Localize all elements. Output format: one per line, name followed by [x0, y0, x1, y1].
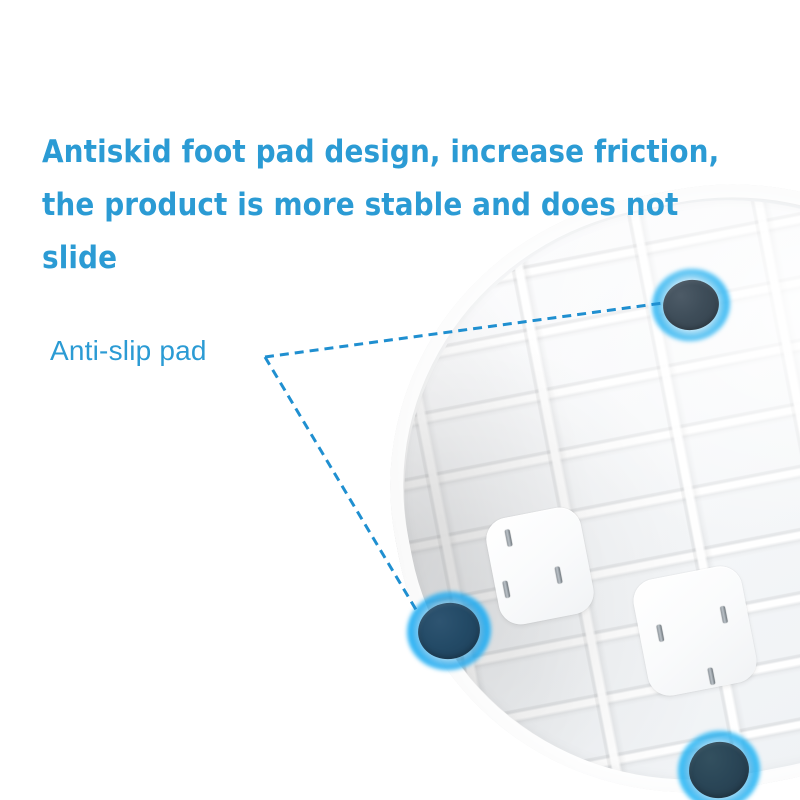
leader-line-upper — [265, 303, 663, 357]
leader-line-lower — [265, 357, 418, 613]
anti-slip-pad-label: Anti-slip pad — [50, 334, 207, 368]
callout-leader-lines — [0, 0, 800, 800]
product-feature-graphic: Antiskid foot pad design, increase frict… — [0, 0, 800, 800]
headline-text: Antiskid foot pad design, increase frict… — [42, 126, 742, 285]
